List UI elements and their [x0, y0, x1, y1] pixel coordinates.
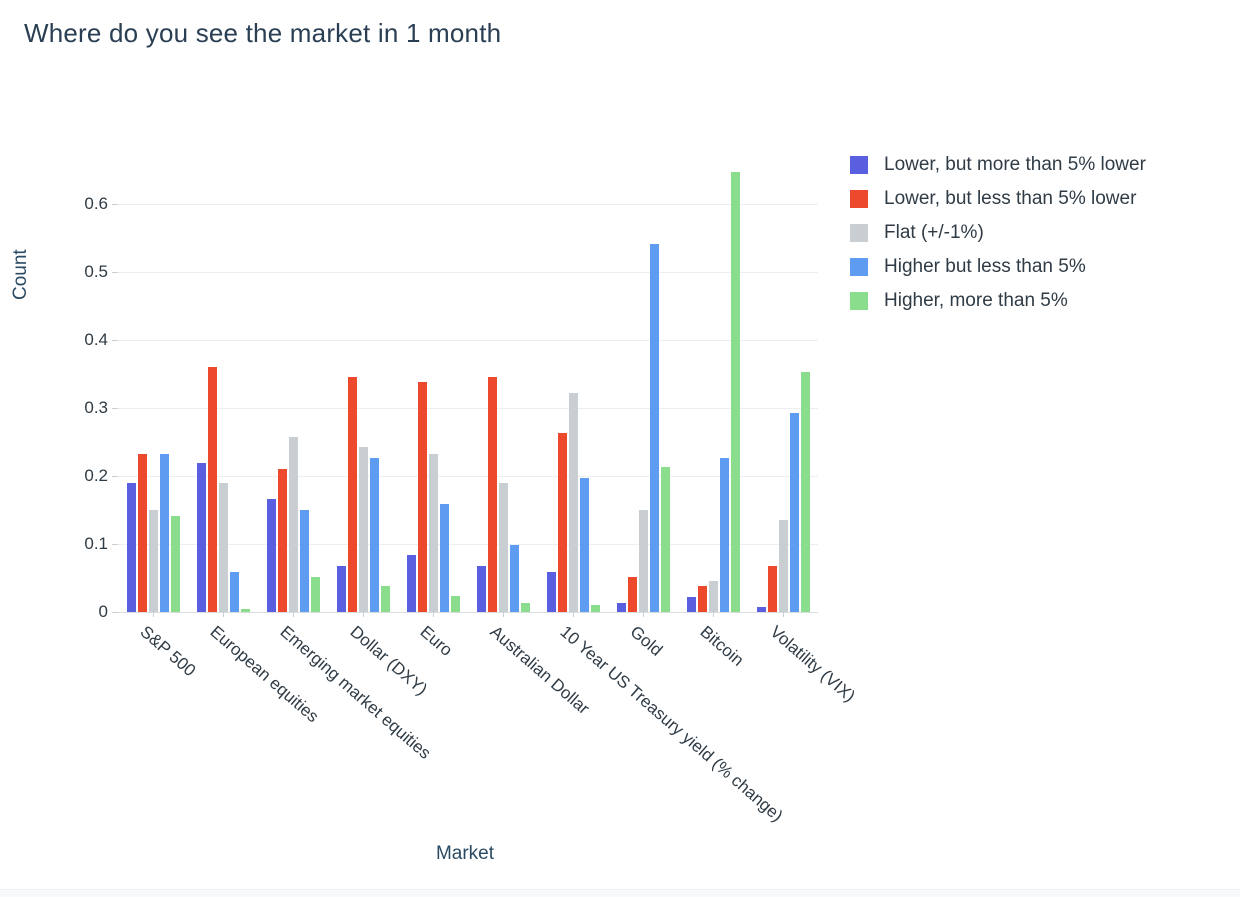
bar[interactable] [510, 545, 519, 612]
x-axis-title: Market [0, 843, 930, 865]
bar[interactable] [171, 516, 180, 612]
bar-group [477, 150, 530, 612]
bar[interactable] [580, 478, 589, 612]
legend-item[interactable]: Higher but less than 5% [850, 250, 1230, 284]
bar[interactable] [569, 393, 578, 612]
legend-item-label: Higher but less than 5% [884, 256, 1086, 278]
bar[interactable] [429, 454, 438, 612]
bar-group [267, 150, 320, 612]
legend-item[interactable]: Flat (+/-1%) [850, 216, 1230, 250]
y-axis-tick-label: 0.3 [84, 398, 108, 418]
y-axis-tick-label: 0.2 [84, 466, 108, 486]
bar[interactable] [407, 555, 416, 612]
bar[interactable] [687, 597, 696, 612]
bar[interactable] [451, 596, 460, 612]
legend[interactable]: Lower, but more than 5% lowerLower, but … [850, 148, 1230, 318]
bar-group [407, 150, 460, 612]
legend-item-label: Higher, more than 5% [884, 290, 1068, 312]
bar[interactable] [440, 504, 449, 612]
bar[interactable] [639, 510, 648, 612]
bar[interactable] [160, 454, 169, 612]
y-axis-tick-label: 0.5 [84, 262, 108, 282]
bar[interactable] [720, 458, 729, 612]
bar[interactable] [801, 372, 810, 612]
bar[interactable] [499, 483, 508, 612]
bar[interactable] [418, 382, 427, 612]
legend-swatch-icon [850, 190, 868, 208]
bar[interactable] [311, 577, 320, 612]
bar[interactable] [289, 437, 298, 612]
x-axis-category-label: Volatility (VIX) [766, 622, 859, 707]
y-axis-tick-label: 0 [99, 602, 108, 622]
bar[interactable] [197, 463, 206, 612]
bar[interactable] [768, 566, 777, 612]
x-axis-category-label: Bitcoin [696, 622, 748, 671]
bar[interactable] [521, 603, 530, 612]
bar[interactable] [267, 499, 276, 612]
legend-swatch-icon [850, 224, 868, 242]
bar[interactable] [348, 377, 357, 612]
bar[interactable] [359, 447, 368, 612]
bar-group [757, 150, 810, 612]
bar-series-container [118, 150, 818, 612]
plot-area: 00.10.20.30.40.50.6 [118, 150, 818, 612]
bottom-divider [0, 889, 1240, 897]
bar[interactable] [219, 483, 228, 612]
legend-swatch-icon [850, 258, 868, 276]
legend-item-label: Lower, but less than 5% lower [884, 188, 1136, 210]
x-axis-category-labels: S&P 500European equitiesEmerging market … [118, 612, 938, 872]
bar[interactable] [488, 377, 497, 612]
bar[interactable] [127, 483, 136, 612]
bar-group [547, 150, 600, 612]
chart-page: Where do you see the market in 1 month C… [0, 0, 1240, 897]
bar[interactable] [278, 469, 287, 612]
bar[interactable] [381, 586, 390, 612]
bar[interactable] [337, 566, 346, 612]
bar[interactable] [547, 572, 556, 612]
x-axis-category-label: Gold [626, 622, 666, 661]
y-axis-title: Count [10, 249, 32, 300]
bar[interactable] [779, 520, 788, 612]
bar[interactable] [709, 581, 718, 612]
bar[interactable] [370, 458, 379, 612]
bar[interactable] [477, 566, 486, 612]
bar[interactable] [208, 367, 217, 612]
x-axis-category-label: 10 Year US Treasury yield (% change) [556, 622, 787, 826]
bar[interactable] [617, 603, 626, 612]
bar[interactable] [731, 172, 740, 612]
x-axis-category-label: Euro [416, 622, 456, 661]
legend-item-label: Flat (+/-1%) [884, 222, 984, 244]
legend-item[interactable]: Lower, but less than 5% lower [850, 182, 1230, 216]
legend-item[interactable]: Lower, but more than 5% lower [850, 148, 1230, 182]
chart-title: Where do you see the market in 1 month [24, 18, 501, 49]
bar[interactable] [650, 244, 659, 612]
y-axis-tick-label: 0.6 [84, 194, 108, 214]
bar[interactable] [591, 605, 600, 612]
bar[interactable] [628, 577, 637, 612]
y-axis-tick-label: 0.1 [84, 534, 108, 554]
legend-item-label: Lower, but more than 5% lower [884, 154, 1146, 176]
bar[interactable] [698, 586, 707, 612]
bar[interactable] [138, 454, 147, 612]
bar[interactable] [149, 510, 158, 612]
bar-group [617, 150, 670, 612]
bar[interactable] [661, 467, 670, 612]
y-axis-tick-label: 0.4 [84, 330, 108, 350]
bar-group [687, 150, 740, 612]
legend-swatch-icon [850, 156, 868, 174]
bar[interactable] [230, 572, 239, 612]
bar-group [337, 150, 390, 612]
x-axis-category-label: S&P 500 [136, 622, 200, 681]
bar[interactable] [300, 510, 309, 612]
bar-group [197, 150, 250, 612]
bar[interactable] [790, 413, 799, 612]
bar-group [127, 150, 180, 612]
bar[interactable] [558, 433, 567, 612]
legend-item[interactable]: Higher, more than 5% [850, 284, 1230, 318]
legend-swatch-icon [850, 292, 868, 310]
